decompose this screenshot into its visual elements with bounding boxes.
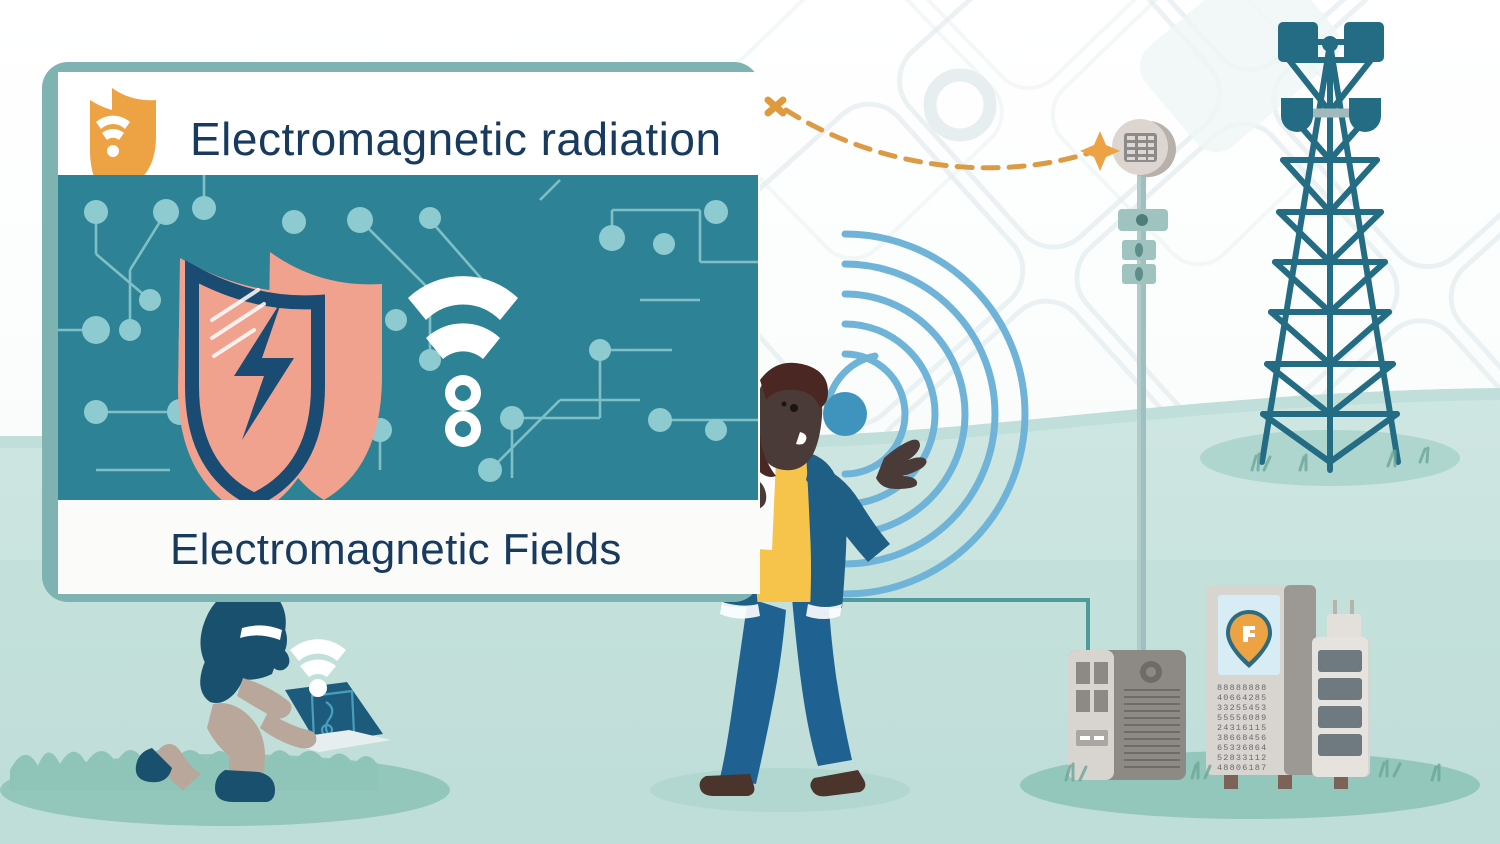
card-title: Electromagnetic radiation (190, 113, 722, 165)
illustration-stage: 88888888 40664285 33255453 55556089 2431… (0, 0, 1500, 844)
card-panel (58, 175, 760, 518)
card-caption: Electromagnetic Fields (170, 525, 622, 574)
info-card[interactable]: Electromagnetic radiation (0, 0, 1500, 844)
